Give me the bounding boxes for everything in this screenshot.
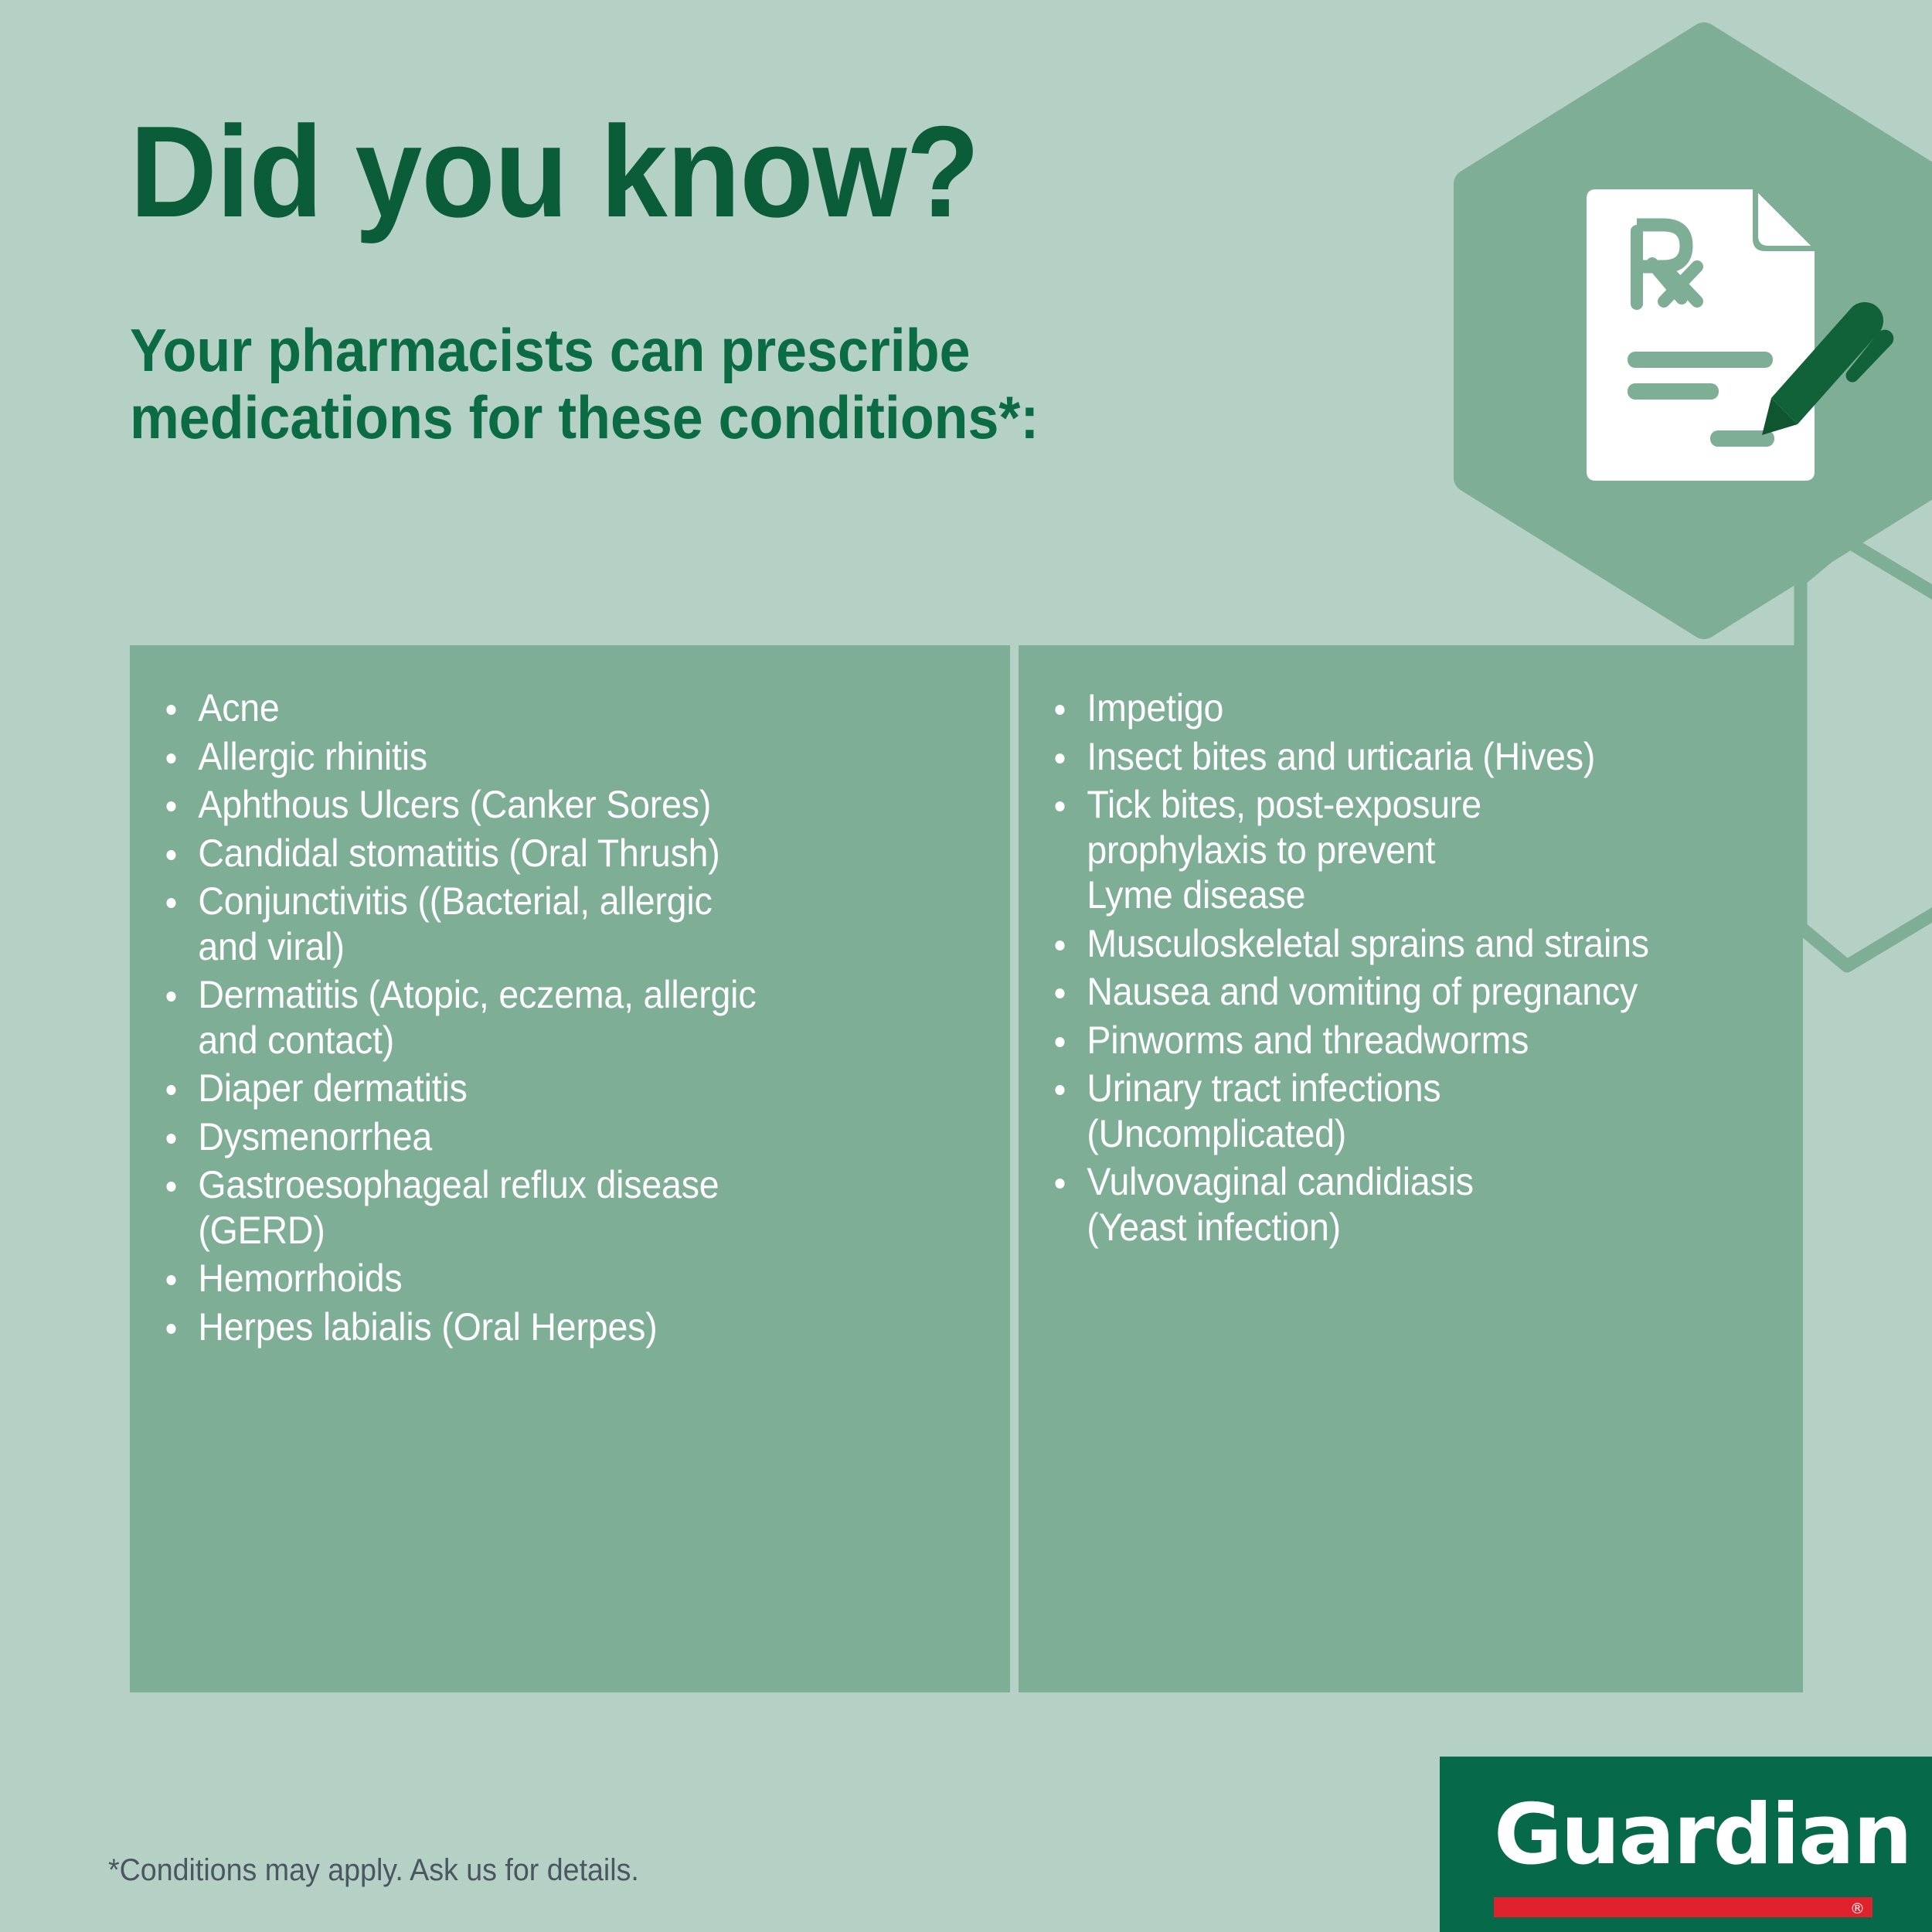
condition-label-line: Aphthous Ulcers (Canker Sores) xyxy=(198,782,922,828)
conditions-list-left: AcneAllergic rhinitisAphthous Ulcers (Ca… xyxy=(161,685,979,1349)
hexagon-outline-icon xyxy=(1801,541,1932,966)
condition-label-line: Allergic rhinitis xyxy=(198,734,922,780)
condition-label-line: Acne xyxy=(198,685,922,731)
condition-list-item: Dermatitis (Atopic, eczema, allergicand … xyxy=(161,972,922,1063)
condition-label-line: Urinary tract infections xyxy=(1087,1066,1721,1111)
condition-label-line: Vulvovaginal candidiasis xyxy=(1087,1159,1721,1205)
condition-label: Dysmenorrhea xyxy=(198,1114,922,1160)
conditions-list-right: ImpetigoInsect bites and urticaria (Hive… xyxy=(1049,685,1772,1250)
bullet-icon xyxy=(1055,988,1064,998)
prescription-document-icon xyxy=(1587,188,1893,481)
condition-list-item: Acne xyxy=(161,685,922,731)
condition-list-item: Nausea and vomiting of pregnancy xyxy=(1049,969,1722,1015)
condition-label: Acne xyxy=(198,685,922,731)
bullet-icon xyxy=(1055,753,1064,764)
condition-label-line: Conjunctivitis ((Bacterial, allergic xyxy=(198,879,922,924)
condition-label-line: Musculoskeletal sprains and strains xyxy=(1087,921,1721,967)
condition-label: Urinary tract infections(Uncomplicated) xyxy=(1087,1066,1721,1156)
condition-list-item: Vulvovaginal candidiasis(Yeast infection… xyxy=(1049,1159,1722,1250)
condition-label: Aphthous Ulcers (Canker Sores) xyxy=(198,782,922,828)
condition-label-line: prophylaxis to prevent xyxy=(1087,828,1721,873)
condition-label: Vulvovaginal candidiasis(Yeast infection… xyxy=(1087,1159,1721,1250)
condition-label-line: and contact) xyxy=(198,1018,922,1063)
condition-label-line: Dysmenorrhea xyxy=(198,1114,922,1160)
condition-list-item: Herpes labialis (Oral Herpes) xyxy=(161,1304,922,1350)
conditions-panel-left: AcneAllergic rhinitisAphthous Ulcers (Ca… xyxy=(130,645,1010,1692)
condition-label: Dermatitis (Atopic, eczema, allergicand … xyxy=(198,972,922,1063)
condition-list-item: Gastroesophageal reflux disease(GERD) xyxy=(161,1162,922,1253)
condition-list-item: Impetigo xyxy=(1049,685,1722,731)
bullet-icon xyxy=(1055,1179,1064,1189)
bullet-icon xyxy=(166,753,175,764)
condition-list-item: Dysmenorrhea xyxy=(161,1114,922,1160)
bullet-icon xyxy=(166,1324,175,1334)
condition-label: Candidal stomatitis (Oral Thrush) xyxy=(198,831,922,876)
condition-label-line: Herpes labialis (Oral Herpes) xyxy=(198,1304,922,1350)
conditions-panels: AcneAllergic rhinitisAphthous Ulcers (Ca… xyxy=(130,645,1803,1692)
bullet-icon xyxy=(166,705,175,715)
conditions-panel-right: ImpetigoInsect bites and urticaria (Hive… xyxy=(1019,645,1803,1692)
condition-list-item: Tick bites, post-exposureprophylaxis to … xyxy=(1049,782,1722,918)
bullet-icon xyxy=(1055,1037,1064,1047)
guardian-red-rule: ® xyxy=(1494,1897,1872,1917)
condition-list-item: Conjunctivitis ((Bacterial, allergicand … xyxy=(161,879,922,969)
bullet-icon xyxy=(166,1134,175,1144)
condition-label-line: (GERD) xyxy=(198,1208,922,1253)
condition-label-line: Hemorrhoids xyxy=(198,1256,922,1301)
condition-list-item: Hemorrhoids xyxy=(161,1256,922,1301)
registered-trademark-icon: ® xyxy=(1850,1899,1865,1919)
condition-list-item: Allergic rhinitis xyxy=(161,734,922,780)
page-subtitle-line-2: medications for these conditions*: xyxy=(130,384,1267,451)
condition-label: Hemorrhoids xyxy=(198,1256,922,1301)
page-title: Did you know? xyxy=(130,108,1280,236)
bullet-icon xyxy=(1055,705,1064,715)
guardian-logo: Guardian ® xyxy=(1440,1757,1932,1932)
bullet-icon xyxy=(1055,940,1064,951)
condition-label-line: (Uncomplicated) xyxy=(1087,1111,1721,1157)
condition-list-item: Candidal stomatitis (Oral Thrush) xyxy=(161,831,922,876)
condition-label-line: and viral) xyxy=(198,924,922,970)
condition-label-line: Tick bites, post-exposure xyxy=(1087,782,1721,828)
condition-label: Tick bites, post-exposureprophylaxis to … xyxy=(1087,782,1721,918)
condition-list-item: Musculoskeletal sprains and strains xyxy=(1049,921,1722,967)
condition-list-item: Insect bites and urticaria (Hives) xyxy=(1049,734,1722,780)
bullet-icon xyxy=(166,1085,175,1095)
condition-label-line: Dermatitis (Atopic, eczema, allergic xyxy=(198,972,922,1018)
condition-label-line: Lyme disease xyxy=(1087,872,1721,918)
bullet-icon xyxy=(166,801,175,811)
condition-label: Insect bites and urticaria (Hives) xyxy=(1087,734,1721,780)
hexagon-shape-icon xyxy=(1468,37,1932,624)
condition-label: Allergic rhinitis xyxy=(198,734,922,780)
condition-label-line: Insect bites and urticaria (Hives) xyxy=(1087,734,1721,780)
condition-label-line: Candidal stomatitis (Oral Thrush) xyxy=(198,831,922,876)
condition-label-line: Nausea and vomiting of pregnancy xyxy=(1087,969,1721,1015)
condition-label: Gastroesophageal reflux disease(GERD) xyxy=(198,1162,922,1253)
condition-list-item: Pinworms and threadworms xyxy=(1049,1018,1722,1063)
page-subtitle-line-1: Your pharmacists can prescribe xyxy=(130,317,1267,384)
condition-label: Pinworms and threadworms xyxy=(1087,1018,1721,1063)
condition-label-line: Gastroesophageal reflux disease xyxy=(198,1162,922,1208)
header-block: Did you know? Your pharmacists can presc… xyxy=(130,108,1366,451)
condition-label: Impetigo xyxy=(1087,685,1721,731)
condition-label: Nausea and vomiting of pregnancy xyxy=(1087,969,1721,1015)
condition-list-item: Aphthous Ulcers (Canker Sores) xyxy=(161,782,922,828)
bullet-icon xyxy=(166,850,175,860)
bullet-icon xyxy=(166,992,175,1002)
guardian-wordmark: Guardian xyxy=(1494,1794,1911,1877)
condition-label: Herpes labialis (Oral Herpes) xyxy=(198,1304,922,1350)
bullet-icon xyxy=(166,898,175,908)
condition-label-line: Pinworms and threadworms xyxy=(1087,1018,1721,1063)
condition-list-item: Diaper dermatitis xyxy=(161,1066,922,1111)
condition-label-line: Impetigo xyxy=(1087,685,1721,731)
condition-label-line: Diaper dermatitis xyxy=(198,1066,922,1111)
bullet-icon xyxy=(1055,801,1064,811)
bullet-icon xyxy=(1055,1085,1064,1095)
condition-list-item: Urinary tract infections(Uncomplicated) xyxy=(1049,1066,1722,1156)
bullet-icon xyxy=(166,1275,175,1285)
condition-label: Conjunctivitis ((Bacterial, allergicand … xyxy=(198,879,922,969)
condition-label: Musculoskeletal sprains and strains xyxy=(1087,921,1721,967)
pen-icon xyxy=(1762,302,1893,435)
page-subtitle: Your pharmacists can prescribe medicatio… xyxy=(130,317,1267,452)
condition-label-line: (Yeast infection) xyxy=(1087,1205,1721,1250)
bullet-icon xyxy=(166,1182,175,1192)
footnote-disclaimer: *Conditions may apply. Ask us for detail… xyxy=(108,1853,639,1888)
condition-label: Diaper dermatitis xyxy=(198,1066,922,1111)
